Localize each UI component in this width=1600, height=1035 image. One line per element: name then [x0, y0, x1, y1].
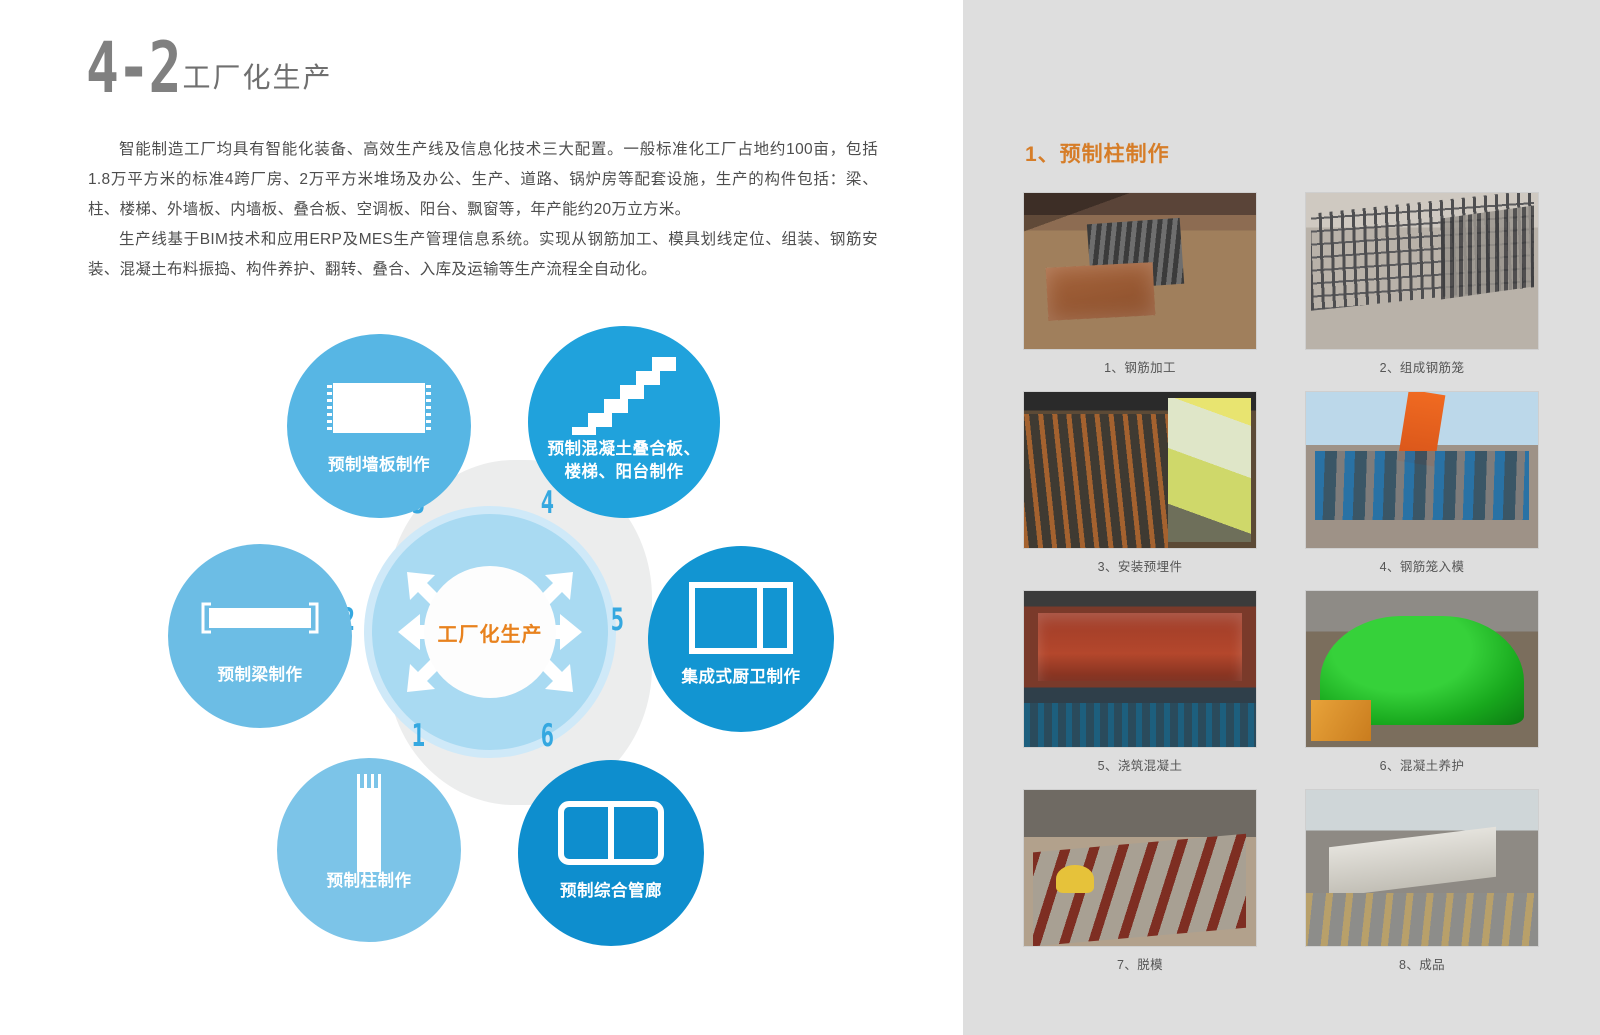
diagram-node-utility-tunnel[interactable]: 预制综合管廊: [518, 760, 704, 946]
process-wheel-diagram: 工厂化生产 1 2 3 4 5 6: [150, 318, 850, 943]
photo-cage-into-mold[interactable]: [1305, 391, 1539, 549]
photo-concrete-pouring[interactable]: [1023, 590, 1257, 748]
photo-rebar-processing[interactable]: [1023, 192, 1257, 350]
diagram-node-label: 集成式厨卫制作: [676, 666, 807, 689]
diagram-hub-center: 工厂化生产: [424, 566, 556, 698]
kitchen-bath-icon: [689, 576, 793, 664]
diagram-node-precast-wallpanel[interactable]: 预制墙板制作: [287, 334, 471, 518]
photo-cell: 6、混凝土养护: [1305, 590, 1539, 777]
diagram-node-precast-beam[interactable]: 预制梁制作: [168, 544, 352, 728]
photo-caption: 4、钢筋笼入模: [1305, 556, 1539, 578]
diagram-hub: 工厂化生产: [372, 514, 608, 750]
precast-column-icon: [341, 780, 397, 868]
diagram-node-integrated-kitchen-bath[interactable]: 集成式厨卫制作: [648, 546, 834, 732]
photo-cell: 1、钢筋加工: [1023, 192, 1257, 379]
body-copy: 智能制造工厂均具有智能化装备、高效生产线及信息化技术三大配置。一般标准化工厂占地…: [88, 135, 878, 285]
diagram-node-label: 预制综合管廊: [554, 880, 668, 903]
photo-cell: 5、浇筑混凝土: [1023, 590, 1257, 777]
photo-caption: 3、安装预埋件: [1023, 556, 1257, 578]
photo-caption: 7、脱模: [1023, 954, 1257, 976]
left-content-panel: 4-2 工厂化生产 智能制造工厂均具有智能化装备、高效生产线及信息化技术三大配置…: [0, 0, 963, 1035]
diagram-node-label: 预制混凝土叠合板、 楼梯、阳台制作: [542, 438, 707, 484]
photo-caption: 8、成品: [1305, 954, 1539, 976]
diagram-node-precast-column[interactable]: 预制柱制作: [277, 758, 461, 942]
slide-page: 4-2 工厂化生产 智能制造工厂均具有智能化装备、高效生产线及信息化技术三大配置…: [0, 0, 1600, 1035]
precast-beam-icon: [195, 574, 325, 662]
diagram-node-precast-slab-stair-balcony[interactable]: 预制混凝土叠合板、 楼梯、阳台制作: [528, 326, 720, 518]
photo-cell: 7、脱模: [1023, 789, 1257, 976]
gallery-title: 1、预制柱制作: [1025, 138, 1170, 168]
photo-concrete-curing[interactable]: [1305, 590, 1539, 748]
paragraph-2: 生产线基于BIM技术和应用ERP及MES生产管理信息系统。实现从钢筋加工、模具划…: [88, 225, 878, 285]
paragraph-1: 智能制造工厂均具有智能化装备、高效生产线及信息化技术三大配置。一般标准化工厂占地…: [88, 135, 878, 225]
staircase-icon: [568, 348, 680, 436]
diagram-node-label: 预制梁制作: [212, 664, 309, 687]
page-title: 工厂化生产: [182, 56, 332, 100]
photo-rebar-cage-assembly[interactable]: [1305, 192, 1539, 350]
photo-cell: 2、组成钢筋笼: [1305, 192, 1539, 379]
hub-label: 工厂化生产: [438, 618, 543, 647]
photo-caption: 5、浇筑混凝土: [1023, 755, 1257, 777]
photo-cell: 3、安装预埋件: [1023, 391, 1257, 578]
photo-cell: 26 08 2001 8、成品: [1305, 789, 1539, 976]
step-number-4: 4: [541, 485, 554, 521]
page-heading: 4-2 工厂化生产: [86, 36, 332, 100]
photo-caption: 1、钢筋加工: [1023, 357, 1257, 379]
section-number: 4-2: [86, 36, 180, 100]
photo-cell: 4、钢筋笼入模: [1305, 391, 1539, 578]
diagram-node-label: 预制柱制作: [321, 870, 418, 893]
step-number-6: 6: [541, 718, 554, 754]
photo-date-stamp: 26 08 2001: [1480, 933, 1533, 942]
photo-demolding[interactable]: [1023, 789, 1257, 947]
step-number-1: 1: [412, 718, 425, 754]
photo-caption: 2、组成钢筋笼: [1305, 357, 1539, 379]
step-number-5: 5: [611, 602, 624, 638]
photo-install-embedded-parts[interactable]: [1023, 391, 1257, 549]
precast-wallpanel-icon: [325, 364, 433, 452]
photo-finished-product[interactable]: 26 08 2001: [1305, 789, 1539, 947]
utility-tunnel-icon: [558, 790, 664, 878]
right-gallery-panel: 1、预制柱制作 1、钢筋加工 2、组成钢筋笼 3、安装预埋件 4、钢筋笼入模 5…: [963, 0, 1600, 1035]
diagram-node-label: 预制墙板制作: [322, 454, 436, 477]
photo-caption: 6、混凝土养护: [1305, 755, 1539, 777]
photo-grid: 1、钢筋加工 2、组成钢筋笼 3、安装预埋件 4、钢筋笼入模 5、浇筑混凝土 6: [1023, 192, 1539, 976]
